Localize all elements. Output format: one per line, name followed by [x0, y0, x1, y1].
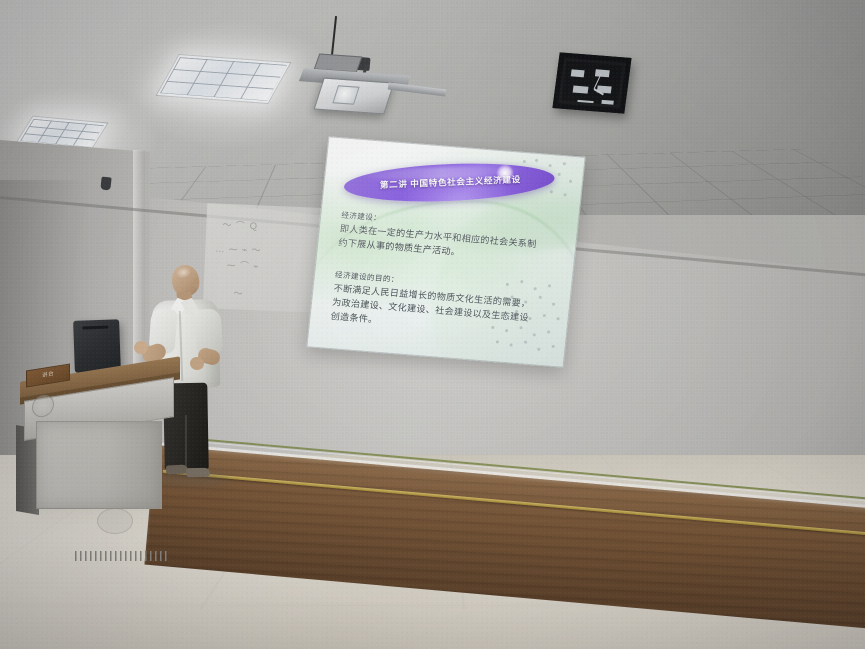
clock-reflection [577, 100, 594, 105]
clock-reflection [571, 69, 585, 77]
presenter-shoe-right [186, 468, 210, 477]
projection-screen[interactable]: 第二讲 中国特色社会主义经济建设 经济建设： 即人类在一定的生产力水平和相应的社… [306, 136, 585, 368]
slide-content: 第二讲 中国特色社会主义经济建设 经济建设： 即人类在一定的生产力水平和相应的社… [306, 136, 585, 368]
louver-grid-icon [160, 57, 287, 101]
lectern-vent-grille [75, 551, 169, 561]
lectern[interactable]: 讲台 [14, 355, 184, 515]
clock-face [561, 61, 622, 105]
presenter-leg-seam [185, 415, 187, 469]
whiteboard-scribble: ～ [233, 286, 244, 299]
whiteboard-scribble: … ⁓ ⌁ ～ [215, 242, 262, 257]
lecture-hall-photo: ～ ⌒ Ｑ … ⁓ ⌁ ～ ⁓ ⌒ ⌁ ～ [0, 0, 865, 649]
ceiling-light-center [155, 54, 291, 104]
lectern-body [36, 421, 162, 509]
whiteboard-scribble: ～ ⌒ Ｑ [222, 218, 259, 233]
monitor-vent [82, 326, 108, 330]
wall-camera-icon [100, 177, 111, 191]
slide-dot-decoration-bottom [472, 275, 566, 361]
presenter-ear [193, 279, 199, 288]
clock-reflection [601, 100, 614, 105]
clock-reflection [595, 69, 610, 77]
wall-clock [552, 52, 631, 113]
lectern-emblem [97, 508, 133, 534]
clock-reflection [573, 86, 589, 94]
